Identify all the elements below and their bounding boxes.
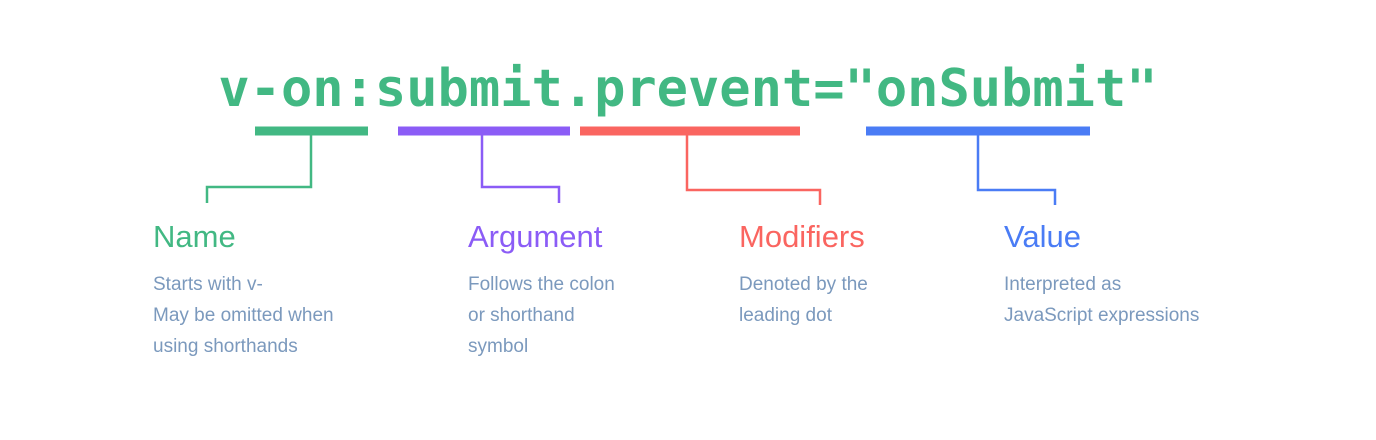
connector-argument xyxy=(398,131,570,203)
elbow-modifiers xyxy=(687,133,820,205)
segment-argument: Argument Follows the colon or shorthand … xyxy=(468,219,718,362)
connector-name xyxy=(207,131,368,203)
directive-syntax-diagram: v-on:submit.prevent="onSubmit" Name Star… xyxy=(0,0,1376,440)
segment-value-description: Interpreted as JavaScript expressions xyxy=(1004,269,1324,331)
segment-argument-description: Follows the colon or shorthand symbol xyxy=(468,269,718,362)
segment-name-description: Starts with v- May be omitted when using… xyxy=(153,269,453,362)
code-expression: v-on:submit.prevent="onSubmit" xyxy=(0,58,1376,120)
elbow-name xyxy=(207,133,311,203)
elbow-value xyxy=(978,133,1055,205)
segment-value: Value Interpreted as JavaScript expressi… xyxy=(1004,219,1324,331)
segment-modifiers-description: Denoted by the leading dot xyxy=(739,269,989,331)
segment-modifiers-title: Modifiers xyxy=(739,219,989,255)
segment-modifiers: Modifiers Denoted by the leading dot xyxy=(739,219,989,331)
segment-name: Name Starts with v- May be omitted when … xyxy=(153,219,453,362)
segment-argument-title: Argument xyxy=(468,219,718,255)
connector-modifiers xyxy=(580,131,820,205)
segment-name-title: Name xyxy=(153,219,453,255)
segment-value-title: Value xyxy=(1004,219,1324,255)
connector-value xyxy=(866,131,1090,205)
elbow-argument xyxy=(482,133,559,203)
